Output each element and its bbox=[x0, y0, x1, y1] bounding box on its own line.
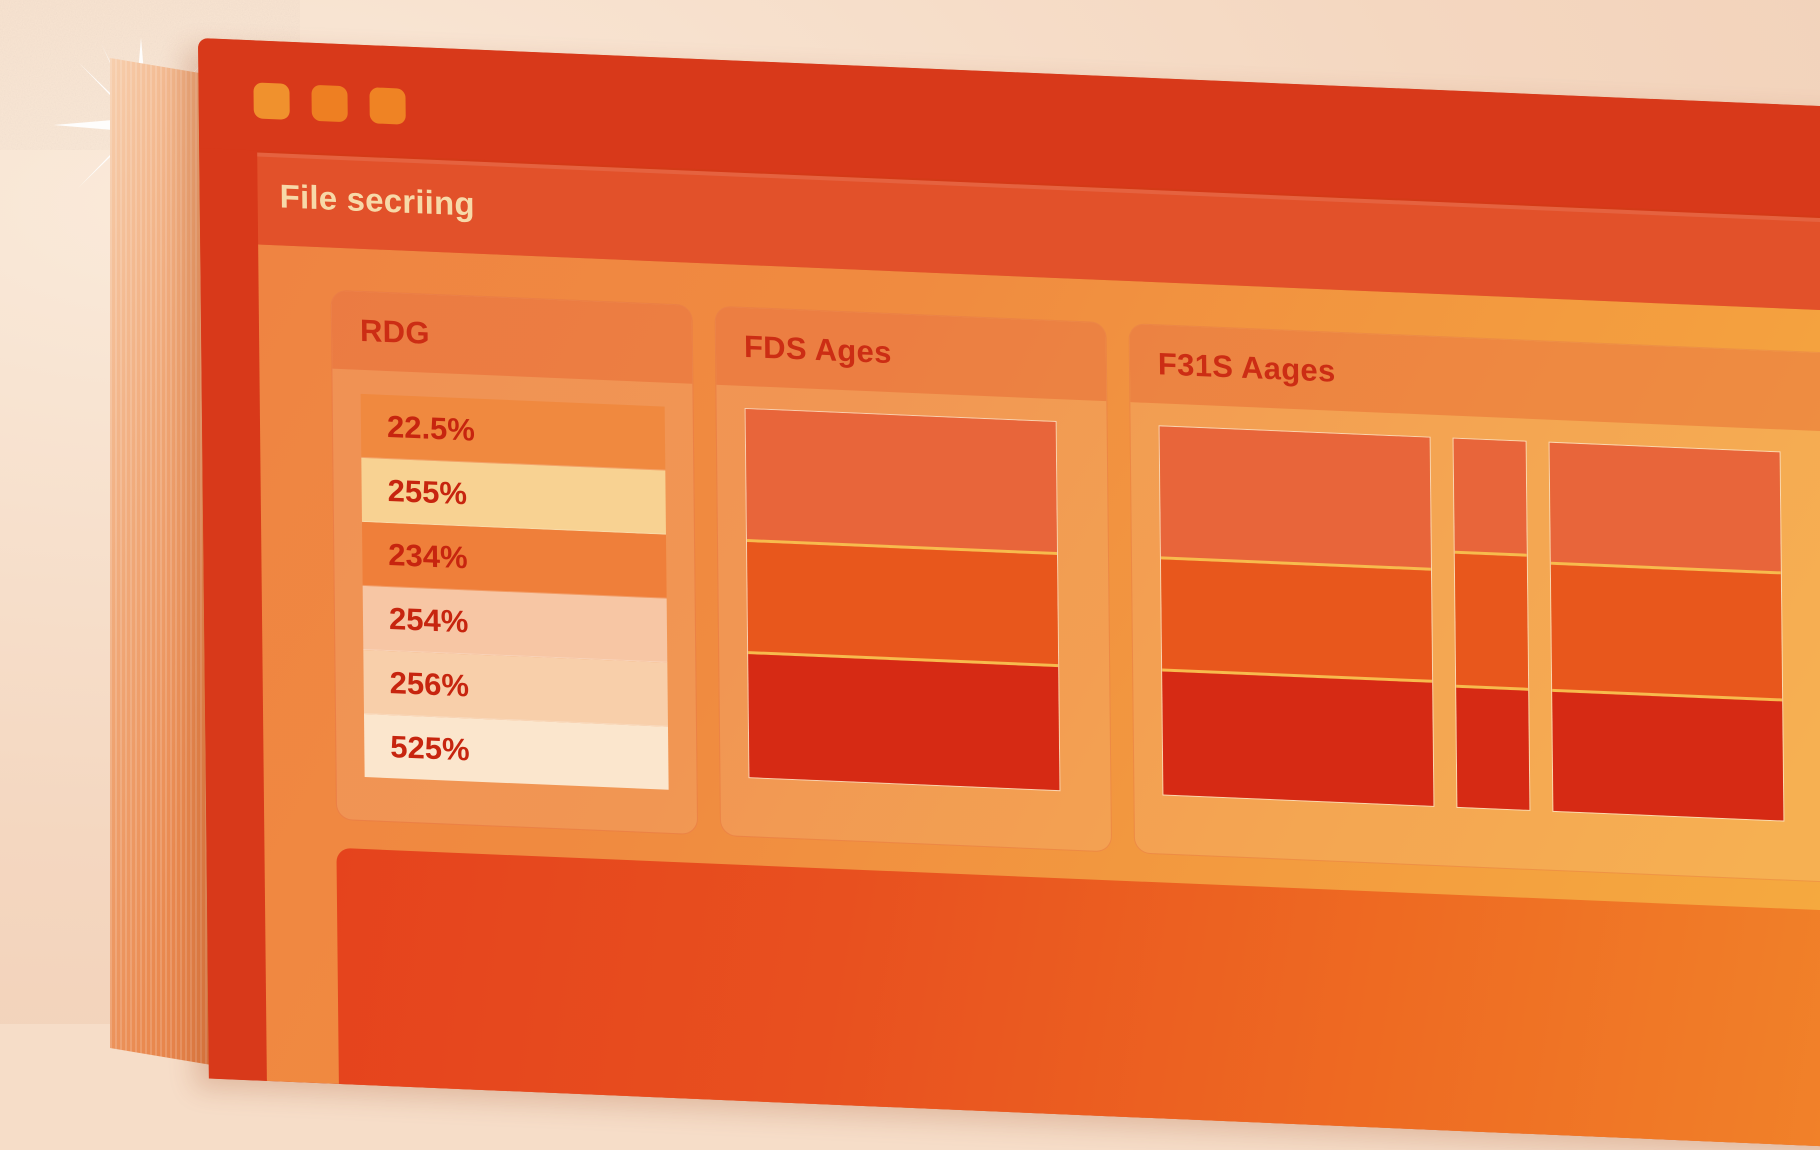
list-item-value: 255% bbox=[387, 472, 467, 511]
bar-segment bbox=[748, 654, 1059, 790]
card-fds-title: FDS Ages bbox=[744, 329, 892, 371]
stacked-bar-chart-fds bbox=[745, 410, 1083, 792]
list-item-value: 525% bbox=[390, 729, 470, 768]
card-f31s-title: F31S Aages bbox=[1158, 346, 1336, 389]
page-title: File secriing bbox=[279, 177, 475, 223]
close-button[interactable] bbox=[253, 82, 289, 120]
card-fds-ages[interactable]: FDS Ages bbox=[715, 306, 1113, 853]
bar-segment bbox=[746, 409, 1057, 555]
window-left-rail bbox=[199, 148, 267, 1081]
bar-segment bbox=[1456, 687, 1529, 810]
bar-segment bbox=[1550, 443, 1781, 575]
app-window: File secriing RDG 22.5%255%234%254%256%5… bbox=[198, 38, 1820, 1150]
list-item-value: 254% bbox=[389, 601, 469, 640]
card-rdg-body: 22.5%255%234%254%256%525% bbox=[332, 369, 697, 821]
table-row[interactable] bbox=[1549, 442, 1785, 822]
card-fds-body bbox=[716, 385, 1110, 824]
stacked-bar-chart-f31s bbox=[1159, 427, 1820, 825]
list-item-value: 256% bbox=[389, 665, 469, 704]
card-rdg-title: RDG bbox=[360, 313, 430, 352]
bar-segment bbox=[1160, 426, 1431, 571]
bar-segment bbox=[1551, 565, 1782, 701]
bar-segment bbox=[1552, 691, 1783, 820]
card-rdg[interactable]: RDG 22.5%255%234%254%256%525% bbox=[331, 290, 699, 835]
table-row[interactable] bbox=[1159, 425, 1435, 807]
table-row[interactable] bbox=[1453, 438, 1531, 811]
maximize-button[interactable] bbox=[369, 87, 405, 125]
bar-segment bbox=[1454, 439, 1527, 557]
bar-segment bbox=[1161, 560, 1432, 683]
card-f31s-aages[interactable]: F31S Aages bbox=[1129, 323, 1820, 885]
bar-segment bbox=[747, 542, 1058, 667]
bottom-panel[interactable] bbox=[336, 848, 1820, 1150]
window-controls bbox=[253, 82, 405, 124]
card-f31s-body bbox=[1130, 402, 1820, 856]
list-item-value: 22.5% bbox=[387, 408, 475, 448]
app-window-wrapper: File secriing RDG 22.5%255%234%254%256%5… bbox=[198, 38, 1820, 1150]
bar-segment bbox=[1455, 554, 1528, 690]
cards-row: RDG 22.5%255%234%254%256%525% FDS Ages bbox=[331, 290, 1820, 888]
minimize-button[interactable] bbox=[311, 85, 347, 123]
app-body: RDG 22.5%255%234%254%256%525% FDS Ages bbox=[258, 245, 1820, 1150]
table-row[interactable] bbox=[745, 408, 1061, 791]
value-list: 22.5%255%234%254%256%525% bbox=[361, 394, 669, 790]
list-item[interactable]: 525% bbox=[364, 714, 669, 790]
bar-segment bbox=[1162, 671, 1433, 805]
card-rdg-header: RDG bbox=[332, 291, 693, 384]
list-item-value: 234% bbox=[388, 536, 468, 575]
